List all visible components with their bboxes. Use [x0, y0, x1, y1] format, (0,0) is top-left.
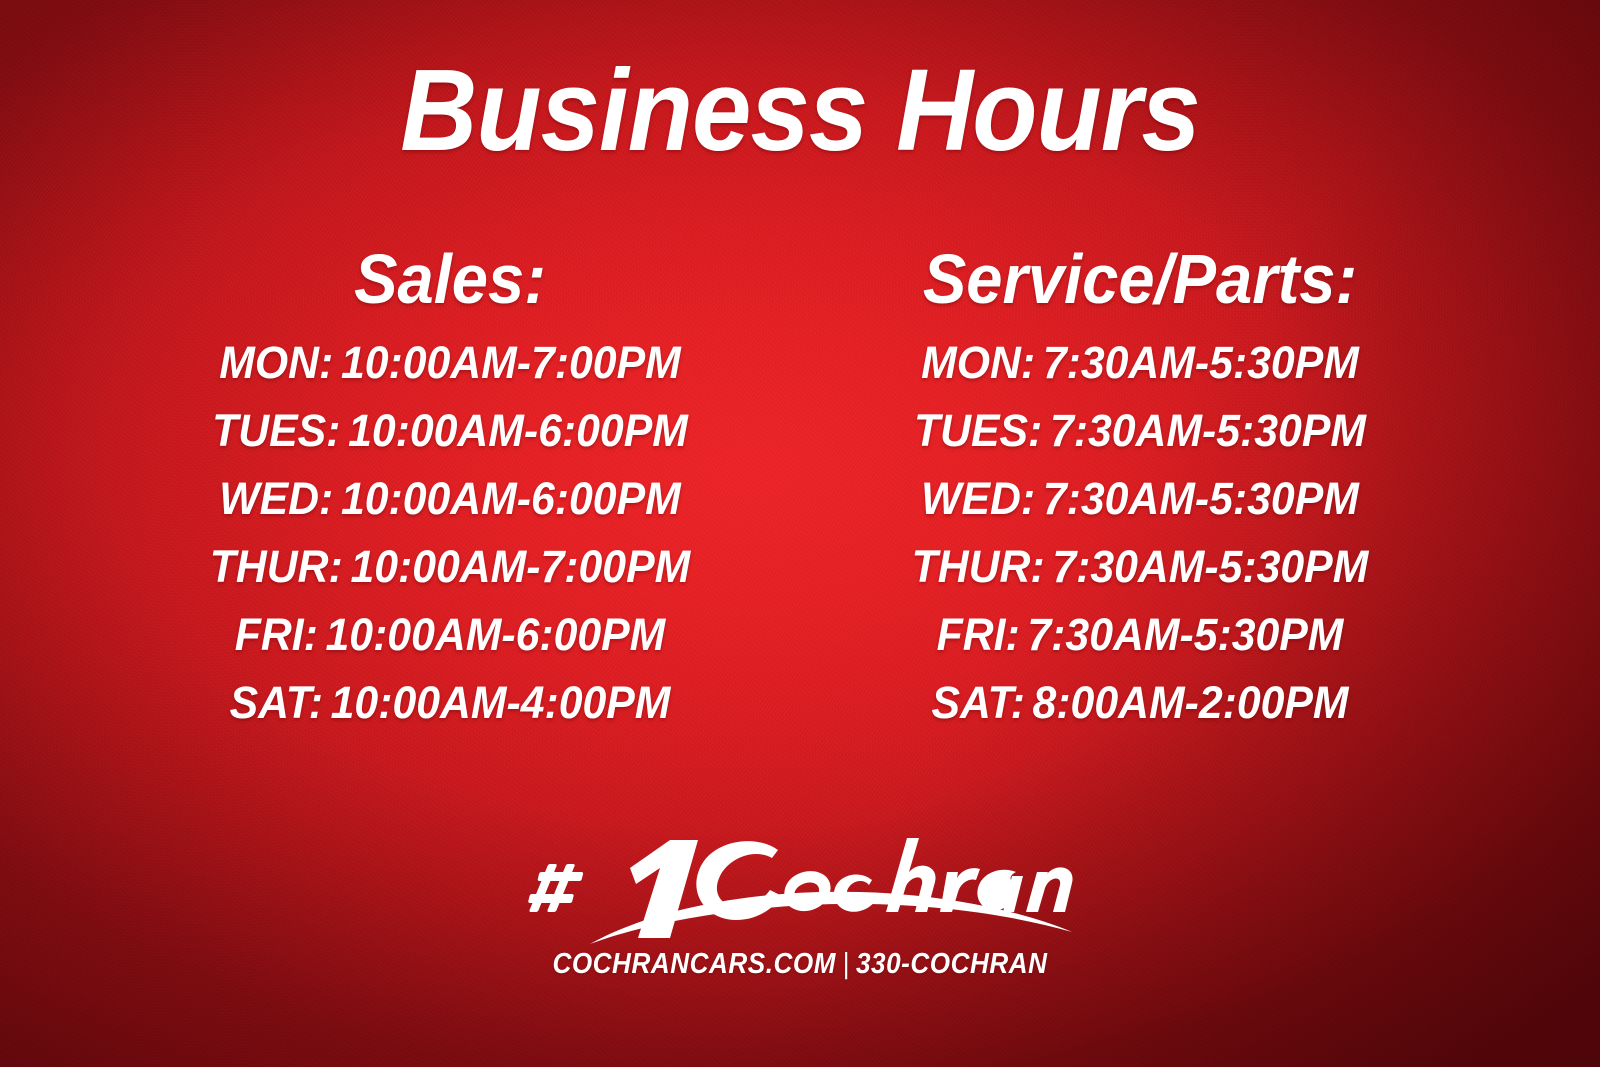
hours-row: TUES:10:00AM-6:00PM [165, 408, 735, 453]
hours-row: SAT:10:00AM-4:00PM [165, 680, 735, 725]
hours-value: 10:00AM-4:00PM [331, 677, 671, 728]
day-label: THUR: [210, 541, 343, 592]
day-label: WED: [219, 473, 333, 524]
hours-value: 8:00AM-2:00PM [1033, 677, 1349, 728]
hours-value: 10:00AM-6:00PM [326, 609, 666, 660]
day-label: WED: [921, 473, 1035, 524]
page-title: Business Hours [64, 48, 1536, 173]
hours-row: THUR:7:30AM-5:30PM [846, 544, 1435, 589]
hours-value: 10:00AM-6:00PM [348, 405, 688, 456]
column-heading-sales: Sales: [171, 244, 729, 314]
column-heading-service-parts: Service/Parts: [852, 244, 1429, 314]
day-label: SAT: [931, 677, 1024, 728]
hours-row: SAT:8:00AM-2:00PM [846, 680, 1435, 725]
hours-column-service-parts: Service/Parts: MON:7:30AM-5:30PM TUES:7:… [830, 244, 1450, 748]
brand-logo-block: COCHRANCARS.COM|330-COCHRAN [0, 806, 1600, 981]
day-label: MON: [921, 337, 1035, 388]
hours-row: MON:10:00AM-7:00PM [165, 340, 735, 385]
hours-value: 7:30AM-5:30PM [1043, 473, 1359, 524]
footer-contact-line: COCHRANCARS.COM|330-COCHRAN [80, 948, 1520, 981]
hours-row: FRI:10:00AM-6:00PM [165, 612, 735, 657]
separator-pipe: | [836, 948, 856, 980]
hours-row: MON:7:30AM-5:30PM [846, 340, 1435, 385]
hours-value: 7:30AM-5:30PM [1052, 541, 1368, 592]
business-hours-poster: Business Hours Sales: MON:10:00AM-7:00PM… [0, 0, 1600, 1067]
hours-row: THUR:10:00AM-7:00PM [165, 544, 735, 589]
day-label: FRI: [235, 609, 318, 660]
cochran-logo [520, 806, 1080, 946]
hours-value: 10:00AM-6:00PM [341, 473, 681, 524]
cochran-swoosh-icon [520, 806, 1080, 946]
hours-value: 7:30AM-5:30PM [1050, 405, 1366, 456]
hours-value: 7:30AM-5:30PM [1027, 609, 1343, 660]
day-label: MON: [219, 337, 333, 388]
hours-value: 10:00AM-7:00PM [350, 541, 690, 592]
hours-row: WED:7:30AM-5:30PM [846, 476, 1435, 521]
hours-value: 7:30AM-5:30PM [1043, 337, 1359, 388]
day-label: TUES: [212, 405, 340, 456]
hours-rows-service-parts: MON:7:30AM-5:30PM TUES:7:30AM-5:30PM WED… [830, 340, 1450, 725]
day-label: SAT: [230, 677, 323, 728]
hours-row: TUES:7:30AM-5:30PM [846, 408, 1435, 453]
day-label: FRI: [937, 609, 1020, 660]
hours-value: 10:00AM-7:00PM [341, 337, 681, 388]
hours-rows-sales: MON:10:00AM-7:00PM TUES:10:00AM-6:00PM W… [150, 340, 750, 725]
website-text: COCHRANCARS.COM [552, 948, 836, 980]
hours-row: FRI:7:30AM-5:30PM [846, 612, 1435, 657]
day-label: THUR: [912, 541, 1045, 592]
day-label: TUES: [914, 405, 1042, 456]
phone-text: 330-COCHRAN [856, 948, 1048, 980]
hours-column-sales: Sales: MON:10:00AM-7:00PM TUES:10:00AM-6… [150, 244, 750, 748]
hours-row: WED:10:00AM-6:00PM [165, 476, 735, 521]
